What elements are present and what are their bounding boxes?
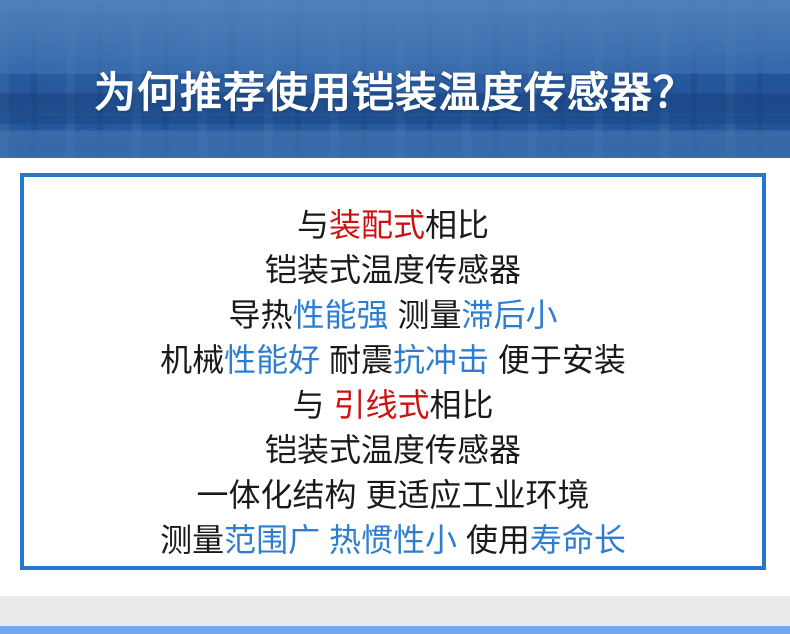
feature-line-segment: 相比 [425,207,489,243]
feature-line-segment: 装配式 [329,207,425,243]
body-area: 与装配式相比铠装式温度传感器导热性能强 测量滞后小机械性能好 耐震抗冲击 便于安… [0,158,790,596]
feature-line-segment: 铠装式温度传感器 [265,252,521,288]
feature-line-segment: 性能好 [224,342,320,378]
feature-line-segment: 测量 [160,522,224,558]
feature-line-segment: 机械 [160,342,224,378]
content-frame: 与装配式相比铠装式温度传感器导热性能强 测量滞后小机械性能好 耐震抗冲击 便于安… [20,173,766,570]
feature-line: 与装配式相比 [24,203,762,248]
feature-line-segment: 导热 [229,297,293,333]
feature-line-segment: 范围广 [224,522,320,558]
feature-line-segment: 铠装式温度传感器 [265,432,521,468]
feature-line-segment: 滞后小 [461,297,557,333]
feature-text-block: 与装配式相比铠装式温度传感器导热性能强 测量滞后小机械性能好 耐震抗冲击 便于安… [24,203,762,563]
feature-line-segment: 一体化结构 更适应工业环境 [197,477,590,513]
feature-line-segment: 抗冲击 [393,342,489,378]
feature-line-segment: 与 [293,387,334,423]
feature-line-segment: 热惯性小 [329,522,457,558]
feature-line-segment: 与 [297,207,329,243]
page-title: 为何推荐使用铠装温度传感器？ [0,72,790,114]
feature-line-segment: 便于安装 [489,342,626,378]
feature-line: 铠装式温度传感器 [24,248,762,293]
footer-gray-bar [0,596,790,626]
feature-line: 一体化结构 更适应工业环境 [24,473,762,518]
page-root: 为何推荐使用铠装温度传感器？ 与装配式相比铠装式温度传感器导热性能强 测量滞后小… [0,0,790,634]
feature-line: 与 引线式相比 [24,383,762,428]
header-banner: 为何推荐使用铠装温度传感器？ [0,0,790,158]
feature-line: 测量范围广 热惯性小 使用寿命长 [24,518,762,563]
feature-line-segment: 寿命长 [530,522,626,558]
feature-line: 导热性能强 测量滞后小 [24,293,762,338]
footer-blue-bar [0,626,790,634]
feature-line: 铠装式温度传感器 [24,428,762,473]
feature-line: 机械性能好 耐震抗冲击 便于安装 [24,338,762,383]
feature-line-segment: 性能强 [293,297,389,333]
feature-line-segment: 相比 [429,387,493,423]
feature-line-segment [320,522,329,558]
feature-line-segment: 使用 [457,522,530,558]
feature-line-segment: 引线式 [333,387,429,423]
feature-line-segment: 测量 [389,297,462,333]
feature-line-segment: 耐震 [320,342,393,378]
